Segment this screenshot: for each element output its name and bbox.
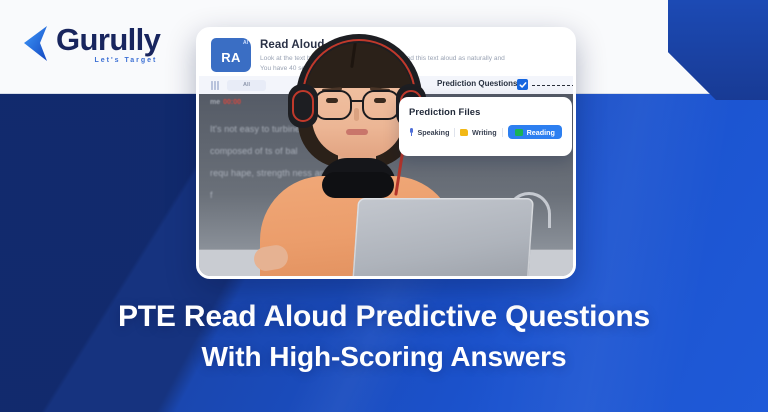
prediction-file-speaking-label: Speaking <box>418 128 450 137</box>
headline-line-2: With High-Scoring Answers <box>0 341 768 372</box>
headline-line-1: PTE Read Aloud Predictive Questions <box>0 300 768 334</box>
prediction-questions-checkbox[interactable] <box>517 79 528 90</box>
folder-icon <box>460 129 468 136</box>
prediction-files-title: Prediction Files <box>409 106 562 117</box>
prediction-file-speaking[interactable]: Speaking <box>409 128 449 137</box>
headline-block: PTE Read Aloud Predictive Questions With… <box>0 300 768 372</box>
headphone-earcup-left <box>288 84 318 128</box>
book-icon <box>515 129 523 136</box>
product-screenshot-card: AI RA Read Aloud Look at the text below.… <box>196 27 576 279</box>
corner-accent-top-right <box>668 0 768 100</box>
exam-paragraph-line-4: f <box>210 190 213 200</box>
timer-label: me <box>210 99 220 106</box>
mouth <box>346 129 368 135</box>
prediction-files-popover: Prediction Files Speaking Writing Readin… <box>399 97 572 156</box>
callout-connector-horizontal <box>532 85 576 86</box>
brand-logo[interactable]: Gurully Let's Target <box>18 24 160 64</box>
badge-initials: RA <box>221 50 240 65</box>
exam-timer: me 00:00 <box>210 99 241 106</box>
nose <box>354 108 359 121</box>
laptop-screen <box>352 198 534 279</box>
prediction-file-writing-label: Writing <box>472 128 497 137</box>
chip-divider <box>454 128 455 137</box>
laptop-base <box>345 276 555 279</box>
ai-tag: AI <box>243 40 248 46</box>
read-aloud-badge-icon: AI RA <box>211 38 251 72</box>
grid-view-icon[interactable] <box>211 81 219 90</box>
laptop-icon <box>341 198 567 279</box>
prediction-file-reading-label: Reading <box>527 128 555 137</box>
eyeglasses-bridge <box>351 100 363 102</box>
microphone-icon <box>409 128 414 136</box>
promo-banner: Gurully Let's Target AI RA Read Aloud Lo… <box>0 0 768 412</box>
check-icon <box>519 81 527 89</box>
left-chevron-arrow-icon <box>18 24 52 64</box>
prediction-file-writing[interactable]: Writing <box>460 128 496 137</box>
prediction-files-chip-group: Speaking Writing Reading <box>409 125 562 139</box>
chip-divider <box>502 128 503 137</box>
sweater-collar <box>322 172 394 198</box>
prediction-file-reading[interactable]: Reading <box>508 125 562 139</box>
brand-tagline: Let's Target <box>56 57 160 64</box>
brand-name: Gurully <box>56 24 160 55</box>
timer-value: 00:00 <box>223 99 241 106</box>
